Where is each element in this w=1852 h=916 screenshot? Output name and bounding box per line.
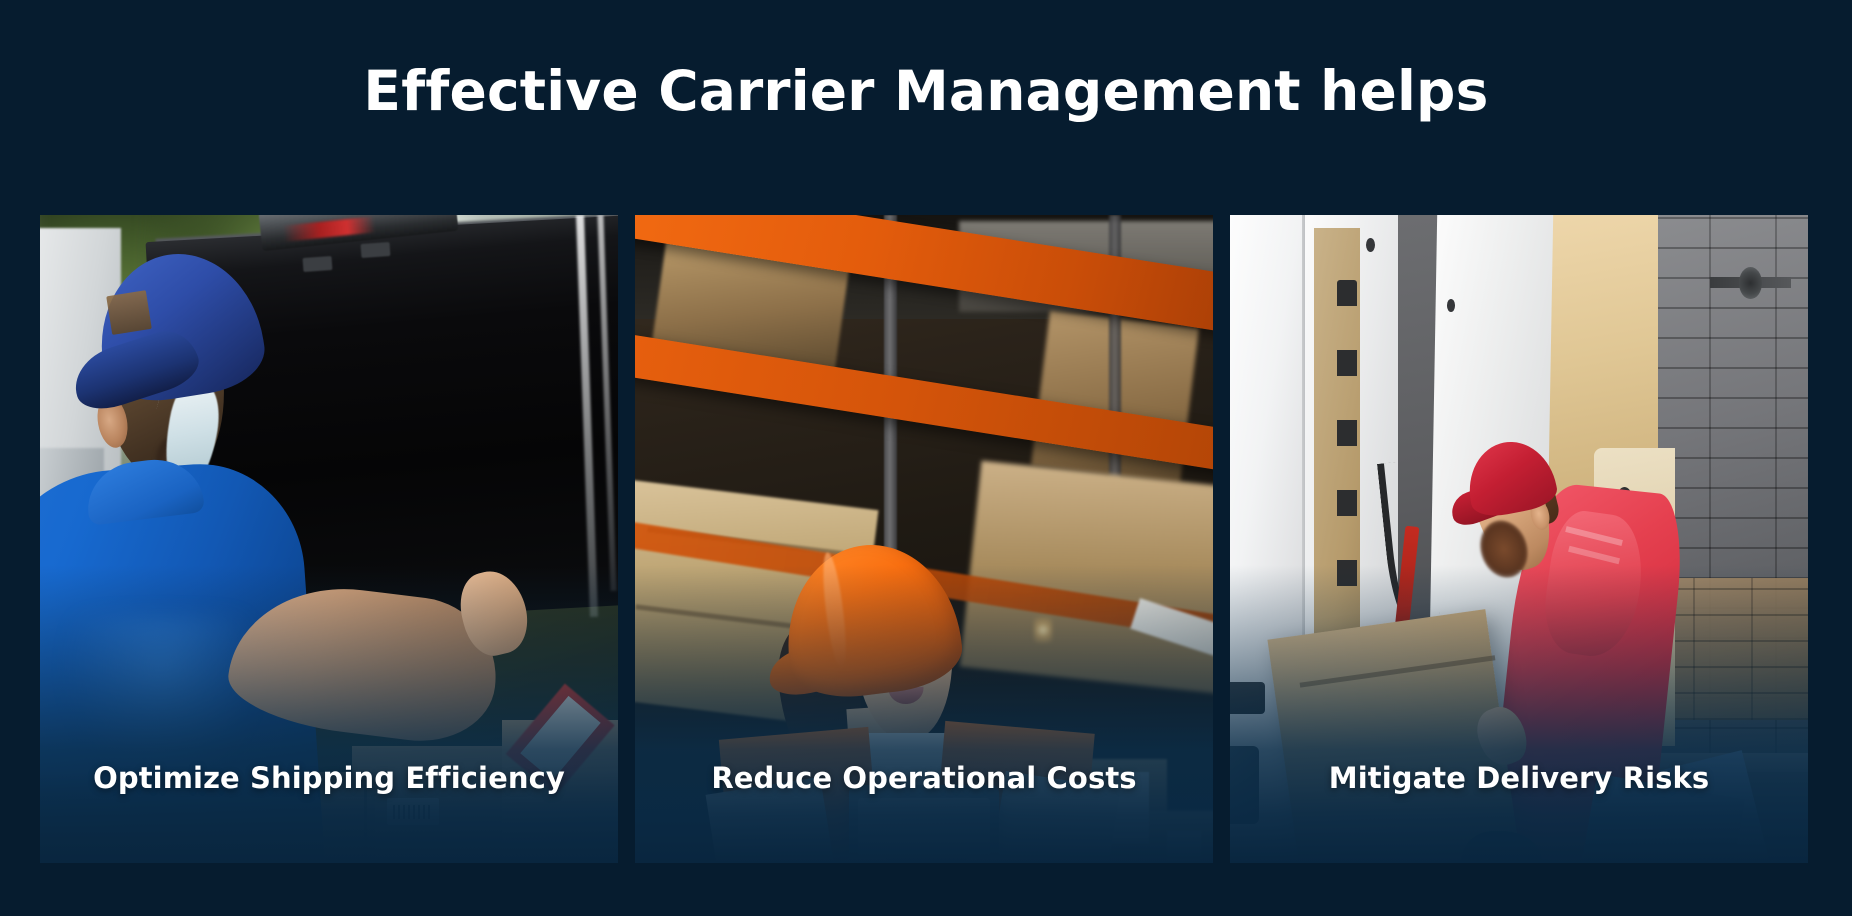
- benefit-card-optimize-shipping-efficiency[interactable]: Optimize Shipping Efficiency: [40, 215, 618, 863]
- card-caption: Reduce Operational Costs: [635, 761, 1213, 795]
- tablet-screen: [858, 798, 991, 863]
- van-door-handle: [1230, 682, 1265, 714]
- packing-slip-b: [1167, 831, 1202, 863]
- tailgate-latch-right: [360, 242, 390, 258]
- benefit-card-row: Optimize Shipping Efficiency: [40, 215, 1808, 863]
- benefit-card-mitigate-delivery-risks[interactable]: Mitigate Delivery Risks: [1230, 215, 1808, 863]
- shirt-highlight: [63, 617, 260, 785]
- door-bolt-left: [1366, 238, 1375, 252]
- door-bolt-right: [1447, 299, 1455, 311]
- page-title-container: Effective Carrier Management helps: [0, 62, 1852, 121]
- carton-stack-right: [960, 461, 1213, 695]
- door-vent-slots: [1337, 280, 1357, 656]
- wall-bolt: [1739, 267, 1762, 299]
- card-caption: Optimize Shipping Efficiency: [40, 761, 618, 795]
- warehouse-lamp-glow: [1034, 617, 1052, 643]
- page-title: Effective Carrier Management helps: [363, 62, 1488, 121]
- tailgate-latch-left: [303, 256, 333, 272]
- carrier-management-banner: Effective Carrier Management helps: [0, 0, 1852, 916]
- card-caption: Mitigate Delivery Risks: [1230, 761, 1808, 795]
- courier-cap-patch: [107, 290, 153, 335]
- benefit-card-reduce-operational-costs[interactable]: Reduce Operational Costs: [635, 215, 1213, 863]
